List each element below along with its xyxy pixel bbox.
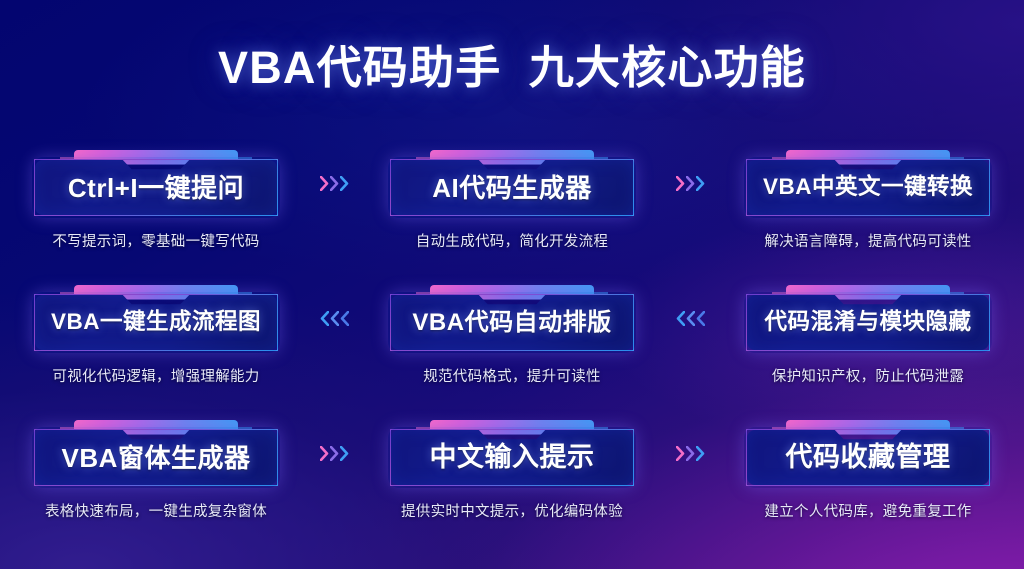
chevron-right-icon: [320, 176, 329, 191]
feature-cell[interactable]: Ctrl+I一键提问 不写提示词，零基础一键写代码: [10, 140, 302, 251]
card-caption: 解决语言障碍，提高代码可读性: [764, 230, 971, 251]
feature-cell[interactable]: VBA窗体生成器 表格快速布局，一键生成复杂窗体: [10, 410, 302, 521]
card-caption: 不写提示词，零基础一键写代码: [52, 230, 259, 251]
card-caption: 可视化代码逻辑，增强理解能力: [52, 365, 259, 386]
feature-card[interactable]: VBA中英文一键转换: [746, 150, 990, 216]
chevron-left-triple-icon: [302, 285, 366, 351]
chevron-right-icon: [330, 176, 339, 191]
chevron-right-icon: [676, 176, 685, 191]
feature-card[interactable]: 中文输入提示: [390, 420, 634, 486]
card-body: [390, 294, 634, 351]
feature-card[interactable]: 代码收藏管理: [746, 420, 990, 486]
card-body: [746, 159, 990, 216]
card-caption: 提供实时中文提示，优化编码体验: [401, 500, 623, 521]
chevron-left-icon: [696, 311, 705, 326]
chevron-right-icon: [340, 446, 349, 461]
chevron-right-icon: [676, 446, 685, 461]
card-body: [746, 429, 990, 486]
chevron-left-icon: [320, 311, 329, 326]
page-title: VBA代码助手 九大核心功能: [0, 31, 1024, 96]
feature-card[interactable]: VBA一键生成流程图: [34, 285, 278, 351]
feature-card[interactable]: Ctrl+I一键提问: [34, 150, 278, 216]
feature-cell[interactable]: VBA中英文一键转换 解决语言障碍，提高代码可读性: [722, 140, 1014, 251]
chevron-right-icon: [320, 446, 329, 461]
chevron-right-triple-icon: [658, 150, 722, 216]
feature-card[interactable]: VBA代码自动排版: [390, 285, 634, 351]
card-body: [34, 429, 278, 486]
card-caption: 规范代码格式，提升可读性: [423, 365, 601, 386]
chevron-left-icon: [330, 311, 339, 326]
chevron-right-triple-icon: [302, 420, 366, 486]
card-caption: 建立个人代码库，避免重复工作: [764, 500, 971, 521]
feature-card[interactable]: AI代码生成器: [390, 150, 634, 216]
chevron-left-icon: [676, 311, 685, 326]
chevron-right-triple-icon: [302, 150, 366, 216]
feature-cell[interactable]: 代码收藏管理 建立个人代码库，避免重复工作: [722, 410, 1014, 521]
card-body: [390, 429, 634, 486]
infographic-canvas: VBA代码助手 九大核心功能 Ctrl+I一键提问 不写提示词，零基础一键写代码: [0, 0, 1024, 569]
card-body: [746, 294, 990, 351]
chevron-right-icon: [686, 446, 695, 461]
card-caption: 表格快速布局，一键生成复杂窗体: [45, 500, 267, 521]
feature-card[interactable]: 代码混淆与模块隐藏: [746, 285, 990, 351]
feature-cell[interactable]: 中文输入提示 提供实时中文提示，优化编码体验: [366, 410, 658, 521]
chevron-left-triple-icon: [658, 285, 722, 351]
chevron-right-triple-icon: [658, 420, 722, 486]
chevron-right-icon: [686, 176, 695, 191]
feature-row: VBA窗体生成器 表格快速布局，一键生成复杂窗体 中文输入提示: [0, 410, 1024, 545]
chevron-right-icon: [696, 176, 705, 191]
card-caption: 保护知识产权，防止代码泄露: [772, 365, 964, 386]
card-body: [34, 159, 278, 216]
chevron-left-icon: [340, 311, 349, 326]
feature-row: Ctrl+I一键提问 不写提示词，零基础一键写代码 AI代码生成器: [0, 140, 1024, 275]
feature-grid: Ctrl+I一键提问 不写提示词，零基础一键写代码 AI代码生成器: [0, 140, 1024, 545]
feature-cell[interactable]: AI代码生成器 自动生成代码，简化开发流程: [366, 140, 658, 251]
chevron-left-icon: [686, 311, 695, 326]
card-body: [390, 159, 634, 216]
chevron-right-icon: [340, 176, 349, 191]
feature-card[interactable]: VBA窗体生成器: [34, 420, 278, 486]
feature-row: VBA一键生成流程图 可视化代码逻辑，增强理解能力 VBA代码自动排版: [0, 275, 1024, 410]
chevron-right-icon: [330, 446, 339, 461]
card-caption: 自动生成代码，简化开发流程: [416, 230, 608, 251]
feature-cell[interactable]: 代码混淆与模块隐藏 保护知识产权，防止代码泄露: [722, 275, 1014, 386]
feature-cell[interactable]: VBA一键生成流程图 可视化代码逻辑，增强理解能力: [10, 275, 302, 386]
feature-cell[interactable]: VBA代码自动排版 规范代码格式，提升可读性: [366, 275, 658, 386]
chevron-right-icon: [696, 446, 705, 461]
card-body: [34, 294, 278, 351]
